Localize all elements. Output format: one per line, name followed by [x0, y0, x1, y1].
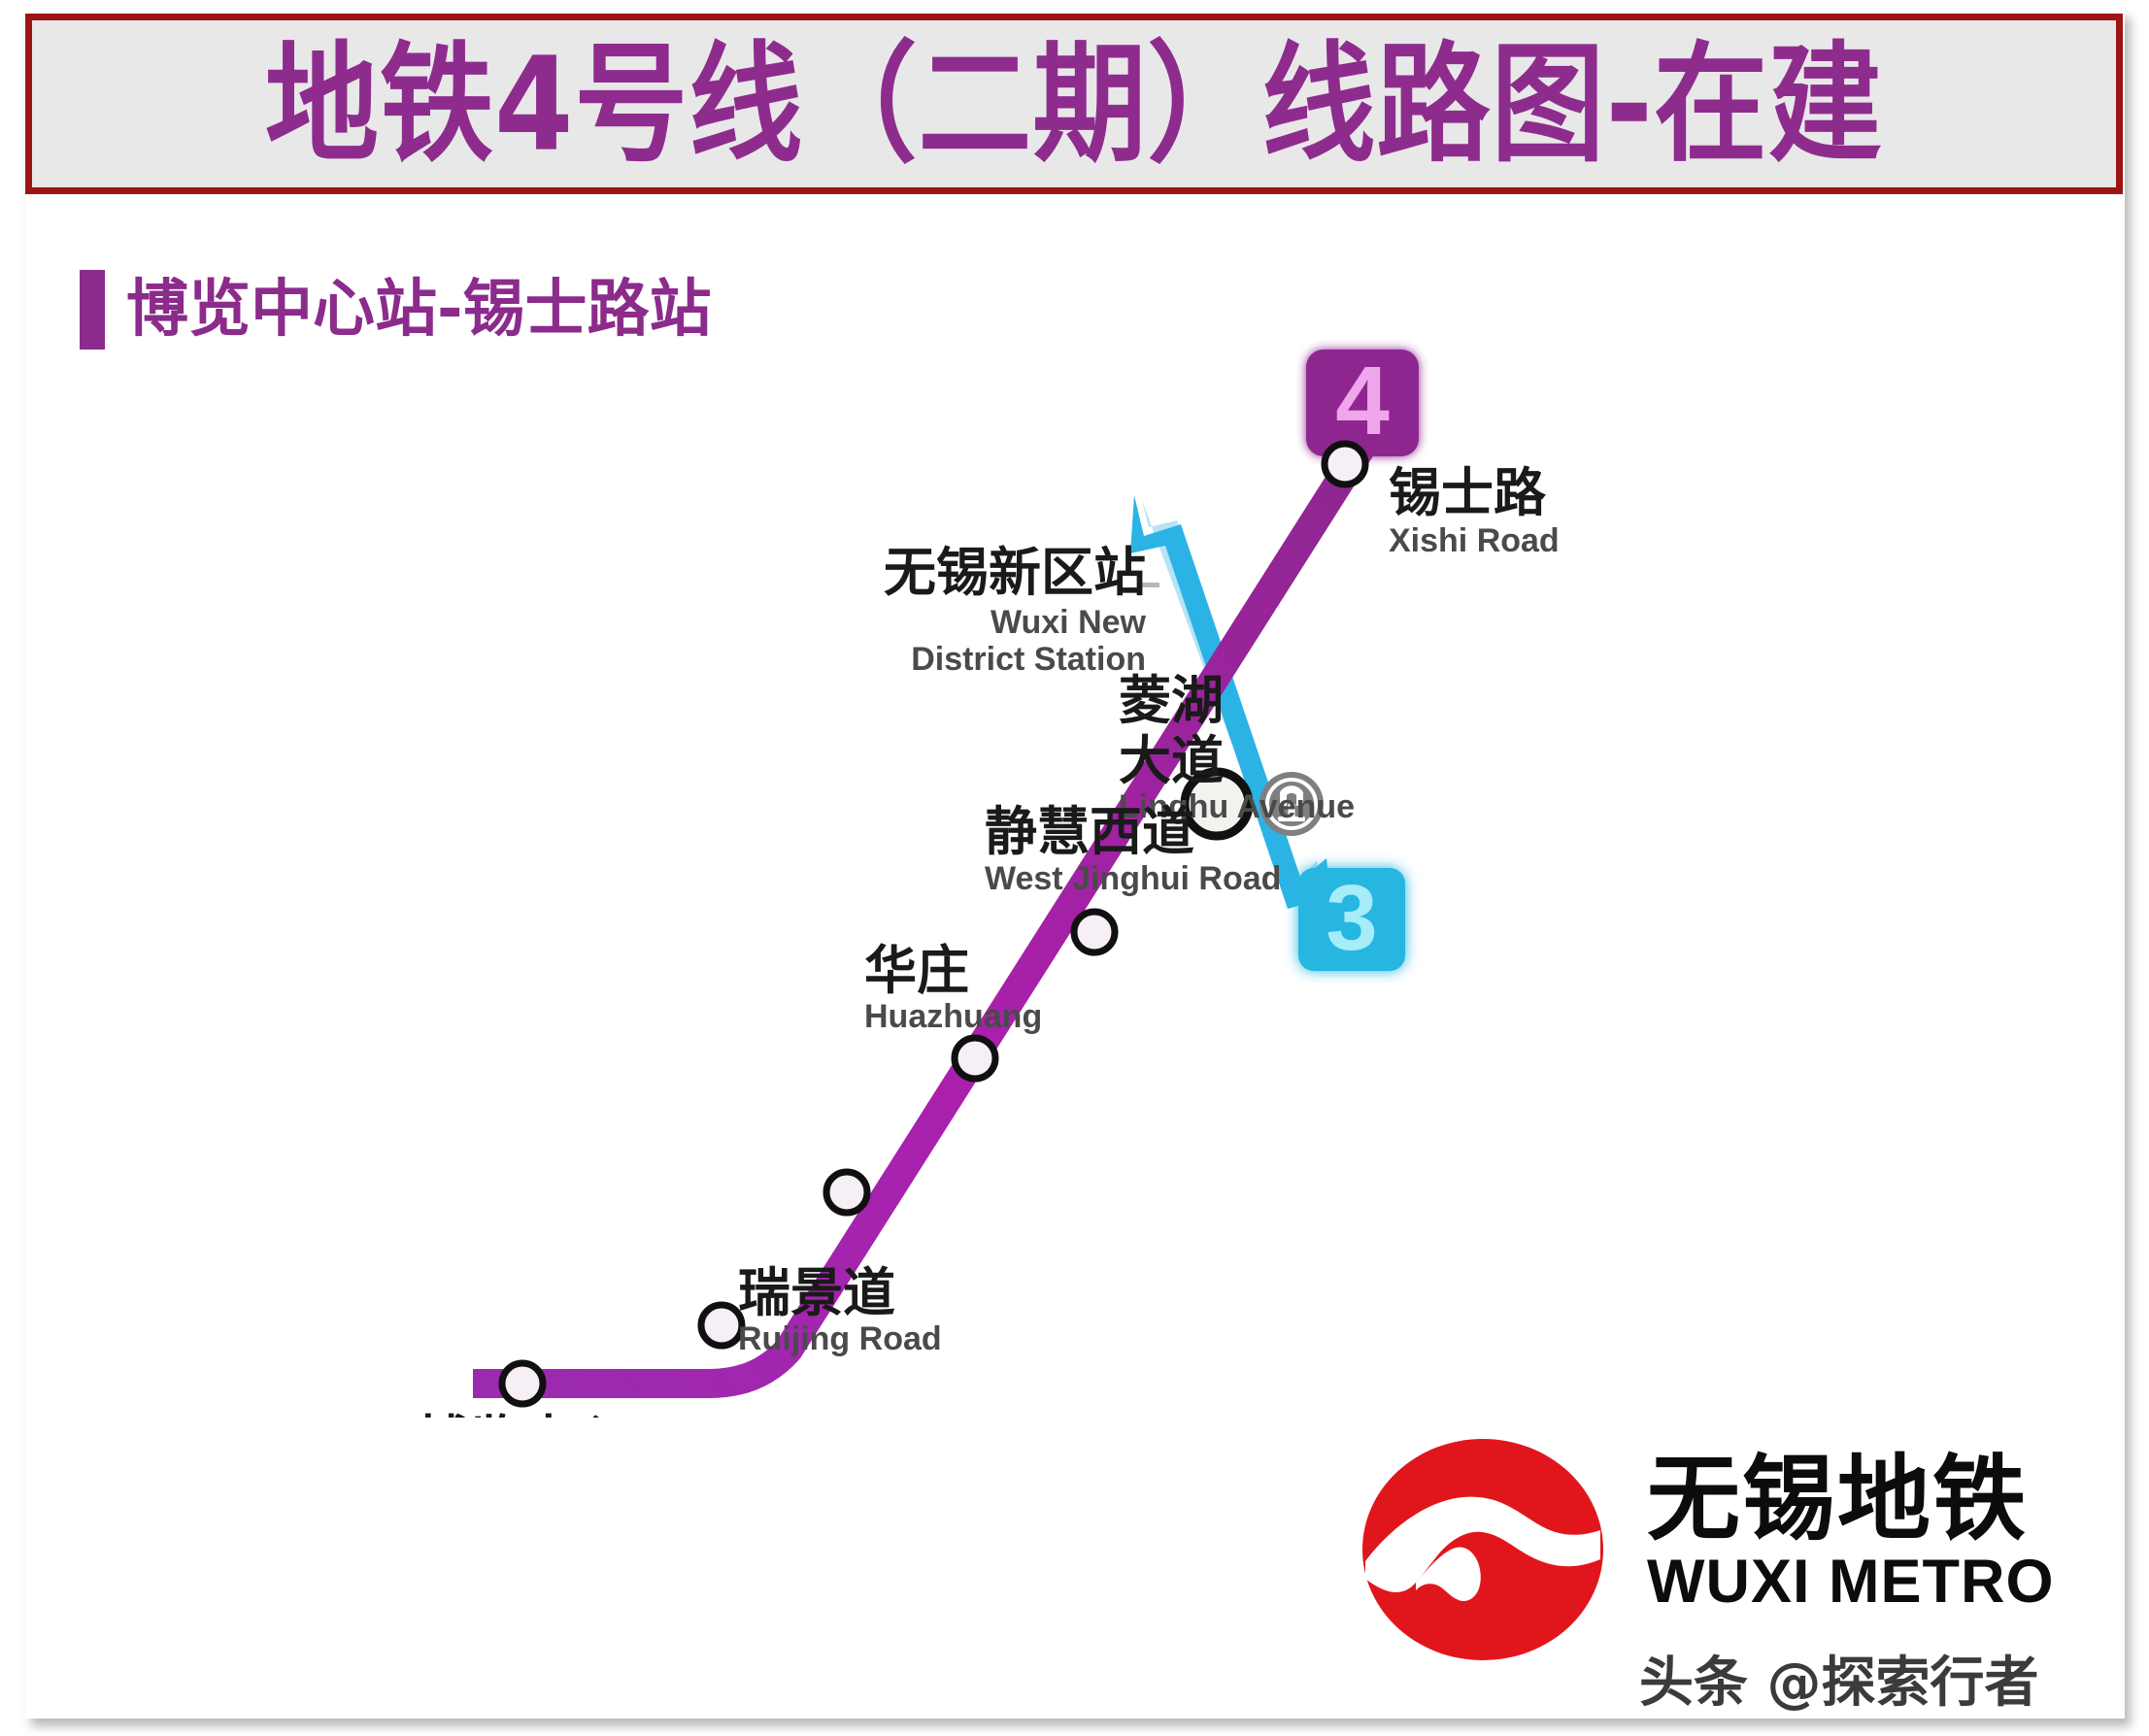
station-name-cn-line2: 大道: [1119, 730, 1224, 791]
station-name-cn: 博览中心: [418, 1410, 627, 1418]
line-4-badge: 4: [1306, 347, 1419, 456]
page-title: 地铁4号线（二期）线路图-在建: [265, 39, 1883, 168]
station-name-en: Ruijing Road: [738, 1320, 942, 1357]
line-3-badge: 3: [1298, 866, 1405, 971]
watermark-text: 头条 @探索行者: [1639, 1639, 2039, 1718]
header-banner: 地铁4号线（二期）线路图-在建: [25, 14, 2123, 194]
station-name-cn-line1: 菱湖: [1119, 670, 1224, 731]
wuxi-metro-logo-mark: [1358, 1437, 1608, 1662]
station-label-wuxi-taihu-international-expo-center: 博览中心 Wuxi Taihu International Expo Cente…: [332, 1410, 713, 1418]
brand-name-en: WUXI METRO: [1647, 1550, 2094, 1614]
station-name-en-line2: District Station: [911, 641, 1146, 678]
brand-name-cn: 无锡地铁: [1647, 1452, 2094, 1548]
station-dot-xishi-road[interactable]: [1325, 444, 1365, 484]
station-name-cn: 华庄: [864, 940, 969, 1001]
station-label-ruijing-road: 瑞景道 Ruijing Road: [738, 1262, 942, 1357]
station-name-cn: 锡士路: [1389, 462, 1547, 523]
station-label-wuxi-new-district-station: 无锡新区站 Wuxi New District Station: [884, 542, 1147, 678]
station-name-cn: 瑞景道: [738, 1262, 895, 1323]
route-map: 4 3: [0, 320, 2149, 1418]
station-name-en-line1: Wuxi New: [991, 604, 1147, 641]
station-name-cn: 静慧西道: [985, 801, 1194, 862]
line-4-badge-number: 4: [1335, 347, 1390, 455]
station-dot-ruijing-road[interactable]: [701, 1305, 742, 1346]
line-3-badge-number: 3: [1326, 866, 1377, 970]
station-dot-linghu-avenue[interactable]: [1074, 912, 1115, 952]
station-dot-huazhuang[interactable]: [826, 1172, 867, 1213]
station-name-en: Huazhuang: [864, 998, 1042, 1035]
slide-page: 地铁4号线（二期）线路图-在建 博览中心站-锡士路站: [0, 0, 2149, 1736]
station-name-en: West Jinghui Road: [985, 860, 1281, 897]
station-dot-wuxi-taihu-international-expo-center[interactable]: [502, 1363, 543, 1404]
station-name-en: Xishi Road: [1389, 522, 1560, 559]
station-name-cn: 无锡新区站: [884, 542, 1146, 603]
station-label-xishi-road: 锡士路 Xishi Road: [1389, 462, 1560, 559]
station-dot-west-jinghui-road[interactable]: [955, 1038, 995, 1079]
wuxi-metro-wordmark: 无锡地铁 WUXI METRO: [1647, 1452, 2094, 1614]
